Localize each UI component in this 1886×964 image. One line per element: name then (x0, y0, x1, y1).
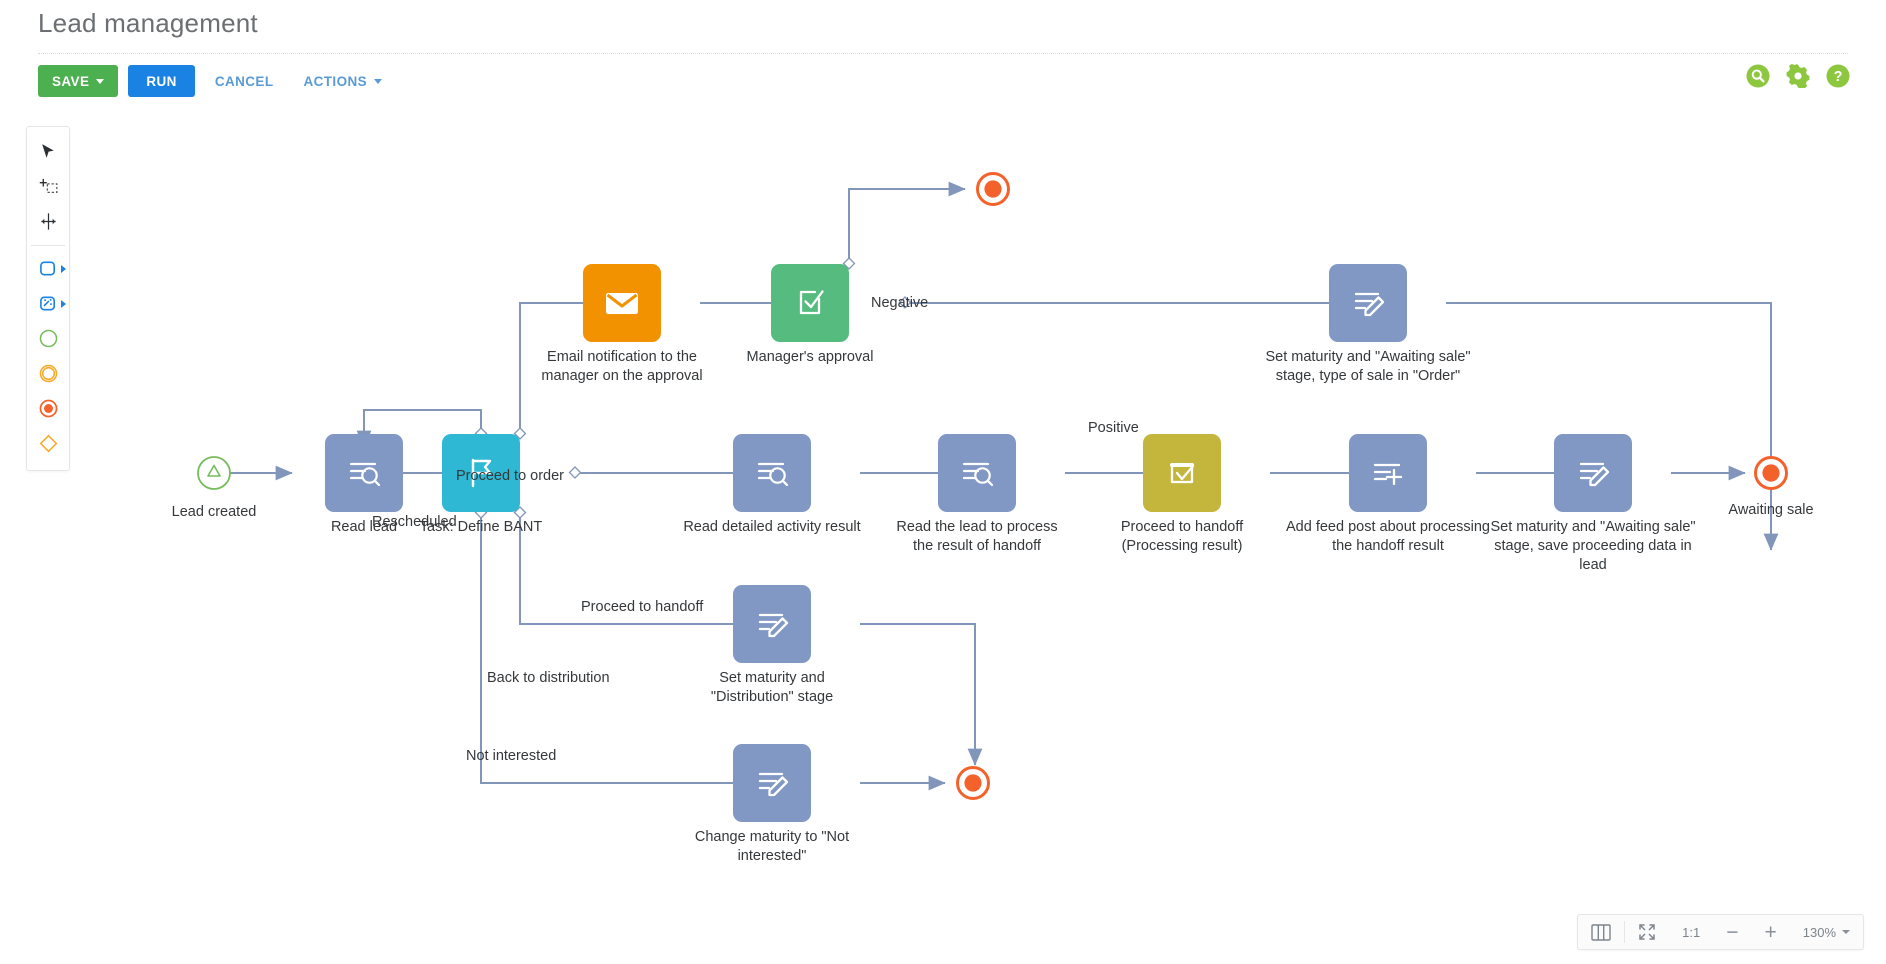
zoom-in-button[interactable]: + (1751, 914, 1789, 950)
node-label: Set maturity and "Awaiting sale" stage, … (1488, 518, 1698, 575)
node-lead-created[interactable]: Lead created (196, 455, 232, 496)
edge-label-not-interested: Not interested (466, 748, 556, 764)
run-button-label: RUN (146, 74, 176, 89)
zoom-level-label: 130% (1803, 925, 1836, 940)
node-add-feed-post[interactable]: Add feed post about processing the hando… (1349, 434, 1427, 512)
node-proceed-handoff[interactable]: Proceed to handoff (Processing result) (1143, 434, 1221, 512)
envelope-icon[interactable] (583, 264, 661, 342)
gear-icon[interactable] (1786, 64, 1810, 88)
cancel-button-label: CANCEL (215, 74, 274, 89)
node-label: Awaiting sale (1728, 501, 1813, 520)
edit-record-icon[interactable] (1554, 434, 1632, 512)
node-label: Change maturity to "Not interested" (682, 828, 862, 866)
triangle-start-icon[interactable] (196, 455, 232, 491)
end-circle-icon[interactable] (975, 171, 1011, 207)
fit-to-screen-button[interactable] (1625, 914, 1669, 950)
read-record-icon[interactable] (938, 434, 1016, 512)
node-label: Proceed to handoff (Processing result) (1092, 518, 1272, 556)
node-read-lead-handoff[interactable]: Read the lead to process the result of h… (938, 434, 1016, 512)
save-button[interactable]: SAVE (38, 65, 118, 97)
chevron-down-icon (374, 79, 382, 84)
chevron-down-icon (96, 79, 104, 84)
read-record-glyph (343, 452, 385, 494)
node-managers-approval[interactable]: Manager's approval (771, 264, 849, 342)
node-end-negative[interactable] (975, 171, 1011, 212)
node-label: Set maturity and "Distribution" stage (682, 669, 862, 707)
save-button-label: SAVE (52, 74, 89, 89)
node-change-maturity-not-interested[interactable]: Change maturity to "Not interested" (733, 744, 811, 822)
add-record-icon[interactable] (1349, 434, 1427, 512)
node-end-not-interested[interactable] (955, 765, 991, 806)
add-record-glyph (1368, 453, 1408, 493)
envelope-glyph (602, 287, 642, 319)
edit-record-icon[interactable] (733, 585, 811, 663)
edge-label-back-to-distribution: Back to distribution (487, 670, 610, 686)
edge-label-proceed-to-order: Proceed to order (456, 468, 564, 484)
zoom-toolbar: 1:1 − + 130% (1577, 914, 1864, 950)
page-title: Lead management (38, 8, 258, 39)
node-label: Read detailed activity result (682, 518, 862, 537)
edit-record-icon[interactable] (733, 744, 811, 822)
node-read-lead[interactable]: Read lead (325, 434, 403, 512)
top-toolbar: SAVE RUN CANCEL ACTIONS (38, 64, 392, 98)
read-record-glyph (956, 452, 998, 494)
edit-record-icon[interactable] (1329, 264, 1407, 342)
run-button[interactable]: RUN (128, 65, 194, 97)
actual-size-button[interactable]: 1:1 (1669, 914, 1713, 950)
zoom-out-button[interactable]: − (1713, 914, 1751, 950)
cancel-button[interactable]: CANCEL (205, 65, 284, 97)
node-label: Manager's approval (747, 348, 874, 367)
actions-button[interactable]: ACTIONS (293, 65, 392, 97)
edit-record-glyph (1573, 453, 1613, 493)
node-label: Add feed post about processing the hando… (1283, 518, 1493, 556)
node-label: Set maturity and "Awaiting sale" stage, … (1263, 348, 1473, 386)
end-circle-icon[interactable] (1753, 455, 1789, 491)
node-label: Read the lead to process the result of h… (887, 518, 1067, 556)
node-set-maturity-order[interactable]: Set maturity and "Awaiting sale" stage, … (1329, 264, 1407, 342)
actions-button-label: ACTIONS (303, 74, 367, 89)
process-check-glyph (1162, 453, 1202, 493)
zoom-level-select[interactable]: 130% (1790, 914, 1863, 950)
title-divider (38, 53, 1848, 54)
toggle-panel-button[interactable] (1578, 914, 1624, 950)
approval-icon[interactable] (771, 264, 849, 342)
edit-record-glyph (752, 763, 792, 803)
process-check-icon[interactable] (1143, 434, 1221, 512)
node-end-awaiting-sale[interactable]: Awaiting sale (1753, 455, 1789, 496)
edge-label-rescheduled: Rescheduled (372, 514, 457, 530)
edge-label-negative: Negative (871, 295, 928, 311)
node-email-notification[interactable]: Email notification to the manager on the… (583, 264, 661, 342)
node-set-maturity-awaiting[interactable]: Set maturity and "Awaiting sale" stage, … (1554, 434, 1632, 512)
edge-label-proceed-to-handoff: Proceed to handoff (581, 599, 703, 615)
approval-glyph (790, 283, 830, 323)
edge-label-positive: Positive (1088, 420, 1139, 436)
node-label: Lead created (172, 503, 257, 522)
edit-record-glyph (1348, 283, 1388, 323)
end-circle-icon[interactable] (955, 765, 991, 801)
read-record-icon[interactable] (733, 434, 811, 512)
diagram-canvas[interactable]: Lead created Read lead Task: Define BANT (0, 110, 1886, 964)
read-record-glyph (751, 452, 793, 494)
node-read-detailed-activity[interactable]: Read detailed activity result (733, 434, 811, 512)
svg-text:?: ? (1834, 69, 1843, 85)
search-icon[interactable] (1746, 64, 1770, 88)
expand-icon (1638, 923, 1656, 941)
panel-icon (1591, 924, 1611, 941)
node-label: Email notification to the manager on the… (532, 348, 712, 386)
read-record-icon[interactable] (325, 434, 403, 512)
top-right-icons: ? (1746, 64, 1850, 88)
help-icon[interactable]: ? (1826, 64, 1850, 88)
chevron-down-icon (1842, 930, 1850, 934)
edit-record-glyph (752, 604, 792, 644)
node-set-maturity-distribution[interactable]: Set maturity and "Distribution" stage (733, 585, 811, 663)
